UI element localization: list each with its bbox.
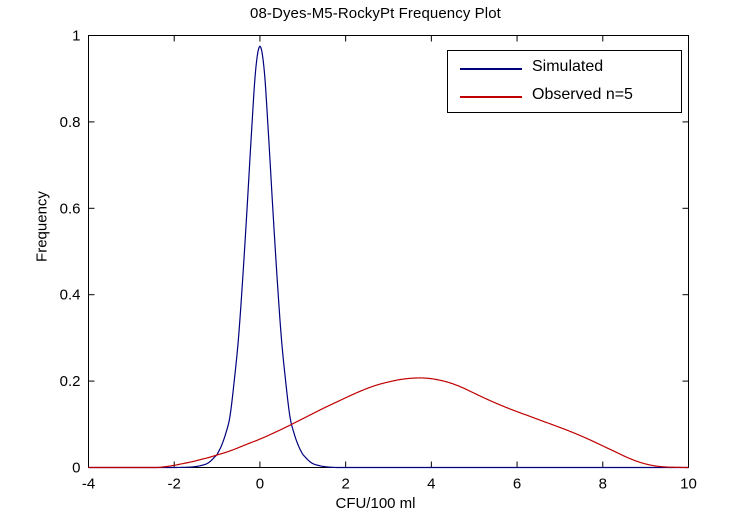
y-axis-tick-labels: 00.20.40.60.81 — [60, 28, 81, 477]
legend-label-simulated: Simulated — [532, 58, 603, 76]
x-tick-label: 8 — [599, 476, 607, 493]
legend-label-observed: Observed n=5 — [532, 86, 633, 104]
legend-swatch-observed — [460, 96, 522, 98]
legend-box: Simulated Observed n=5 — [447, 50, 682, 113]
x-tick-label: 4 — [427, 476, 435, 493]
series-line-observed-n-5 — [89, 378, 689, 468]
x-axis-label: CFU/100 ml — [0, 495, 751, 512]
x-tick-label: 10 — [680, 476, 697, 493]
legend-item-simulated: Simulated — [448, 55, 683, 83]
x-axis-tick-labels: -4-20246810 — [82, 476, 697, 493]
y-tick-label: 0.2 — [60, 373, 81, 390]
x-tick-label: 2 — [341, 476, 349, 493]
y-tick-label: 0.4 — [60, 287, 81, 304]
legend-item-observed: Observed n=5 — [448, 83, 683, 111]
x-tick-label: 0 — [256, 476, 264, 493]
x-tick-label: 6 — [513, 476, 521, 493]
y-axis-label: Frequency — [34, 167, 51, 287]
y-tick-label: 0 — [72, 460, 80, 477]
legend-swatch-simulated — [460, 68, 522, 70]
x-tick-label: -2 — [168, 476, 181, 493]
y-tick-label: 0.8 — [60, 114, 81, 131]
x-tick-label: -4 — [82, 476, 95, 493]
figure-canvas: 08-Dyes-M5-RockyPt Frequency Plot -4-202… — [0, 0, 751, 525]
y-tick-label: 1 — [72, 28, 80, 45]
y-tick-label: 0.6 — [60, 200, 81, 217]
